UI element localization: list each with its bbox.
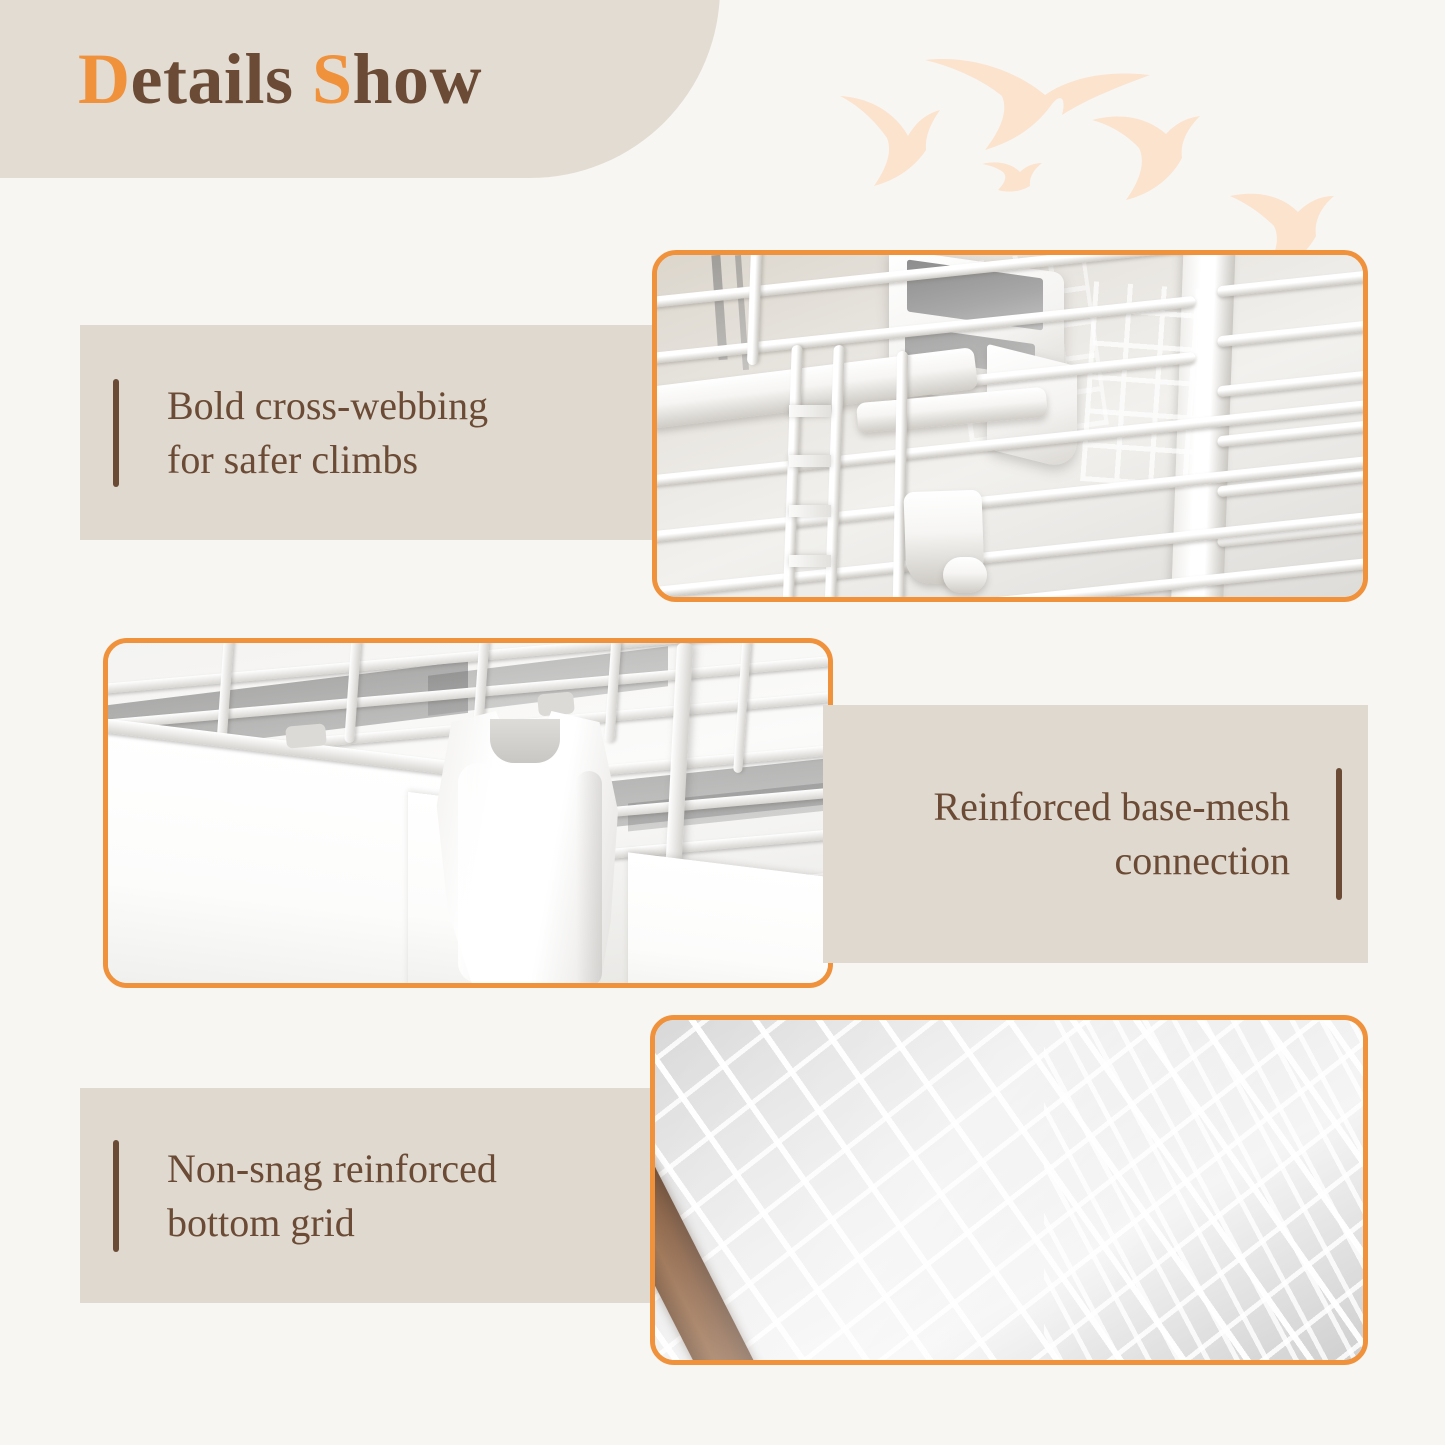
feature-caption-text-cross-webbing: Bold cross-webbing for safer climbs [167, 379, 488, 487]
feature-photo-bottom-grid [650, 1015, 1368, 1365]
photo-content-base-mesh [108, 643, 828, 983]
caption-accent-bar [1336, 768, 1342, 900]
feature-photo-base-mesh [103, 638, 833, 988]
page-title-accent-d: D [78, 39, 131, 119]
feature-photo-cross-webbing [652, 250, 1368, 602]
page-title: Details Show [78, 40, 482, 119]
page-title-accent-s: S [312, 39, 353, 119]
page-title-part-2: how [353, 39, 483, 119]
feature-caption-text-base-mesh: Reinforced base-mesh connection [933, 780, 1290, 888]
photo-content-cross-webbing [657, 255, 1363, 597]
photo-content-bottom-grid [655, 1020, 1363, 1360]
feature-caption-panel-bottom-grid: Non-snag reinforced bottom grid [80, 1088, 658, 1303]
feature-caption-panel-base-mesh: Reinforced base-mesh connection [823, 705, 1368, 963]
feature-caption-panel-cross-webbing: Bold cross-webbing for safer climbs [80, 325, 658, 540]
caption-accent-bar [113, 379, 119, 487]
caption-accent-bar [113, 1140, 119, 1252]
page-title-part-1: etails [131, 39, 312, 119]
infographic-canvas: Details Show Bold cross-webbing for safe… [0, 0, 1445, 1445]
feature-caption-text-bottom-grid: Non-snag reinforced bottom grid [167, 1142, 497, 1250]
